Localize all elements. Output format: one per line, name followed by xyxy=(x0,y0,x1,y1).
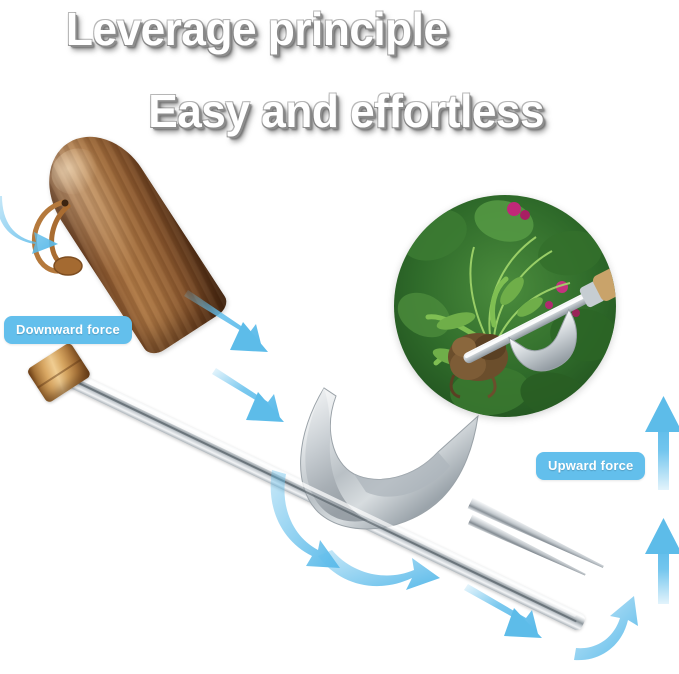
downward-force-label: Downward force xyxy=(4,316,132,344)
page-title-line-2: Easy and effortless xyxy=(148,88,544,134)
fork-prong-upper xyxy=(467,498,606,573)
leather-strap xyxy=(24,196,102,278)
page-title-line-1: Leverage principle xyxy=(66,6,448,52)
promo-image-canvas: Leverage principle Easy and effortless D… xyxy=(0,0,679,674)
ferrule-ring xyxy=(37,359,82,389)
inset-photo-weed-extraction xyxy=(394,195,616,417)
brass-ferrule xyxy=(26,342,91,404)
upward-force-label: Upward force xyxy=(536,452,645,480)
